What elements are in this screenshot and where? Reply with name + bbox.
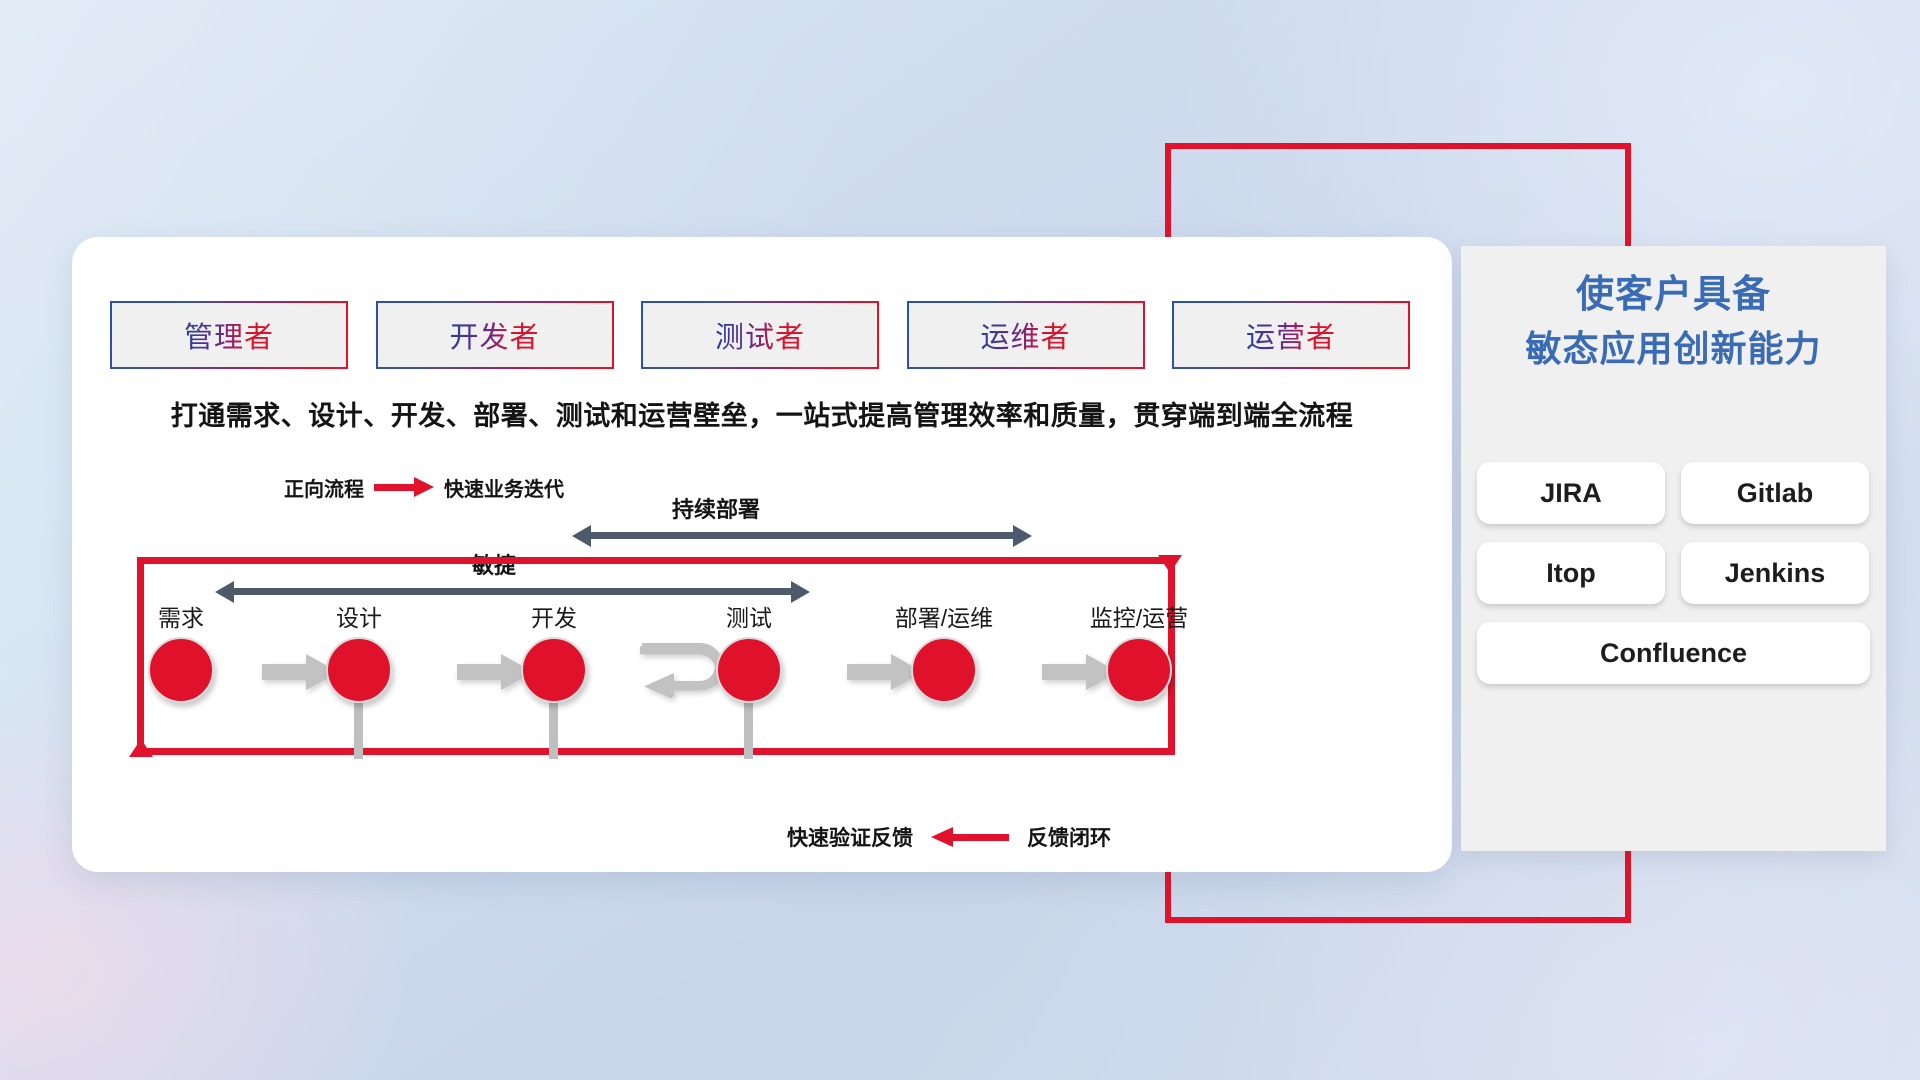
value-panel: 使客户具备 敏态应用创新能力 JIRA Gitlab Itop Jenkins …	[1461, 246, 1886, 851]
tool-list: JIRA Gitlab Itop Jenkins Confluence	[1477, 462, 1870, 684]
role-box-developer[interactable]: 开发者	[376, 301, 614, 369]
stage-label: 部署/运维	[869, 599, 1019, 633]
role-label: 测试者	[715, 314, 805, 356]
stage-develop[interactable]: 开发	[479, 599, 629, 703]
feedback-left-label: 快速验证反馈	[787, 822, 913, 852]
stage-requirement[interactable]: 需求	[106, 599, 256, 703]
stage-dot	[716, 637, 782, 703]
stage-label: 设计	[284, 599, 434, 633]
tool-confluence[interactable]: Confluence	[1477, 622, 1870, 684]
description-text: 打通需求、设计、开发、部署、测试和运营壁垒，一站式提高管理效率和质量，贯穿端到端…	[114, 394, 1410, 433]
stage-design[interactable]: 设计	[284, 599, 434, 703]
role-box-manager[interactable]: 管理者	[110, 301, 348, 369]
loop-arrow-up-icon	[129, 739, 153, 757]
stage-test[interactable]: 测试	[674, 599, 824, 703]
red-left-arrow-icon	[931, 827, 1009, 847]
uptick-develop	[549, 699, 558, 759]
stage-dot	[911, 637, 977, 703]
continuous-deployment-label: 持续部署	[672, 492, 760, 524]
role-box-ops[interactable]: 运维者	[907, 301, 1145, 369]
main-card: 管理者 开发者 测试者 运维者 运营者 打通需求、设计、开发、部署、测试和运营壁…	[72, 237, 1452, 872]
continuous-deployment-double-arrow-icon	[572, 525, 1032, 547]
uptick-design	[354, 699, 363, 759]
stage-dot	[1106, 637, 1172, 703]
tool-itop[interactable]: Itop	[1477, 542, 1665, 604]
stage-dot	[521, 637, 587, 703]
stage-label: 测试	[674, 599, 824, 633]
role-label: 运营者	[1246, 314, 1336, 356]
role-label: 管理者	[184, 314, 274, 356]
stage-monitor-operations[interactable]: 监控/运营	[1064, 599, 1214, 703]
stage-deploy-ops[interactable]: 部署/运维	[869, 599, 1019, 703]
red-right-arrow-icon	[374, 477, 434, 497]
stage-label: 需求	[106, 599, 256, 633]
tool-jira[interactable]: JIRA	[1477, 462, 1665, 524]
role-box-operations[interactable]: 运营者	[1172, 301, 1410, 369]
forward-flow-legend: 正向流程 快速业务迭代	[284, 474, 564, 500]
stage-dot	[326, 637, 392, 703]
tool-jenkins[interactable]: Jenkins	[1681, 542, 1869, 604]
panel-heading: 使客户具备 敏态应用创新能力	[1461, 268, 1886, 375]
stage-label: 监控/运营	[1064, 599, 1214, 633]
tool-gitlab[interactable]: Gitlab	[1681, 462, 1869, 524]
loop-arrow-down-icon	[1158, 555, 1182, 573]
uptick-test	[744, 699, 753, 759]
stage-dot	[148, 637, 214, 703]
panel-heading-line1: 使客户具备	[1461, 268, 1886, 323]
feedback-loop-legend: 快速验证反馈 反馈闭环	[787, 822, 1111, 852]
role-box-tester[interactable]: 测试者	[641, 301, 879, 369]
feedback-right-label: 反馈闭环	[1027, 822, 1111, 852]
role-label: 运维者	[980, 314, 1070, 356]
stage-row: 需求 设计 开发 测试 部署/运维 监控/运营	[114, 599, 1414, 729]
forward-flow-left-label: 正向流程	[284, 473, 364, 502]
stage-label: 开发	[479, 599, 629, 633]
role-label: 开发者	[449, 314, 539, 356]
role-box-row: 管理者 开发者 测试者 运维者 运营者	[110, 301, 1410, 369]
forward-flow-right-label: 快速业务迭代	[444, 473, 564, 502]
panel-heading-line2: 敏态应用创新能力	[1461, 323, 1886, 375]
